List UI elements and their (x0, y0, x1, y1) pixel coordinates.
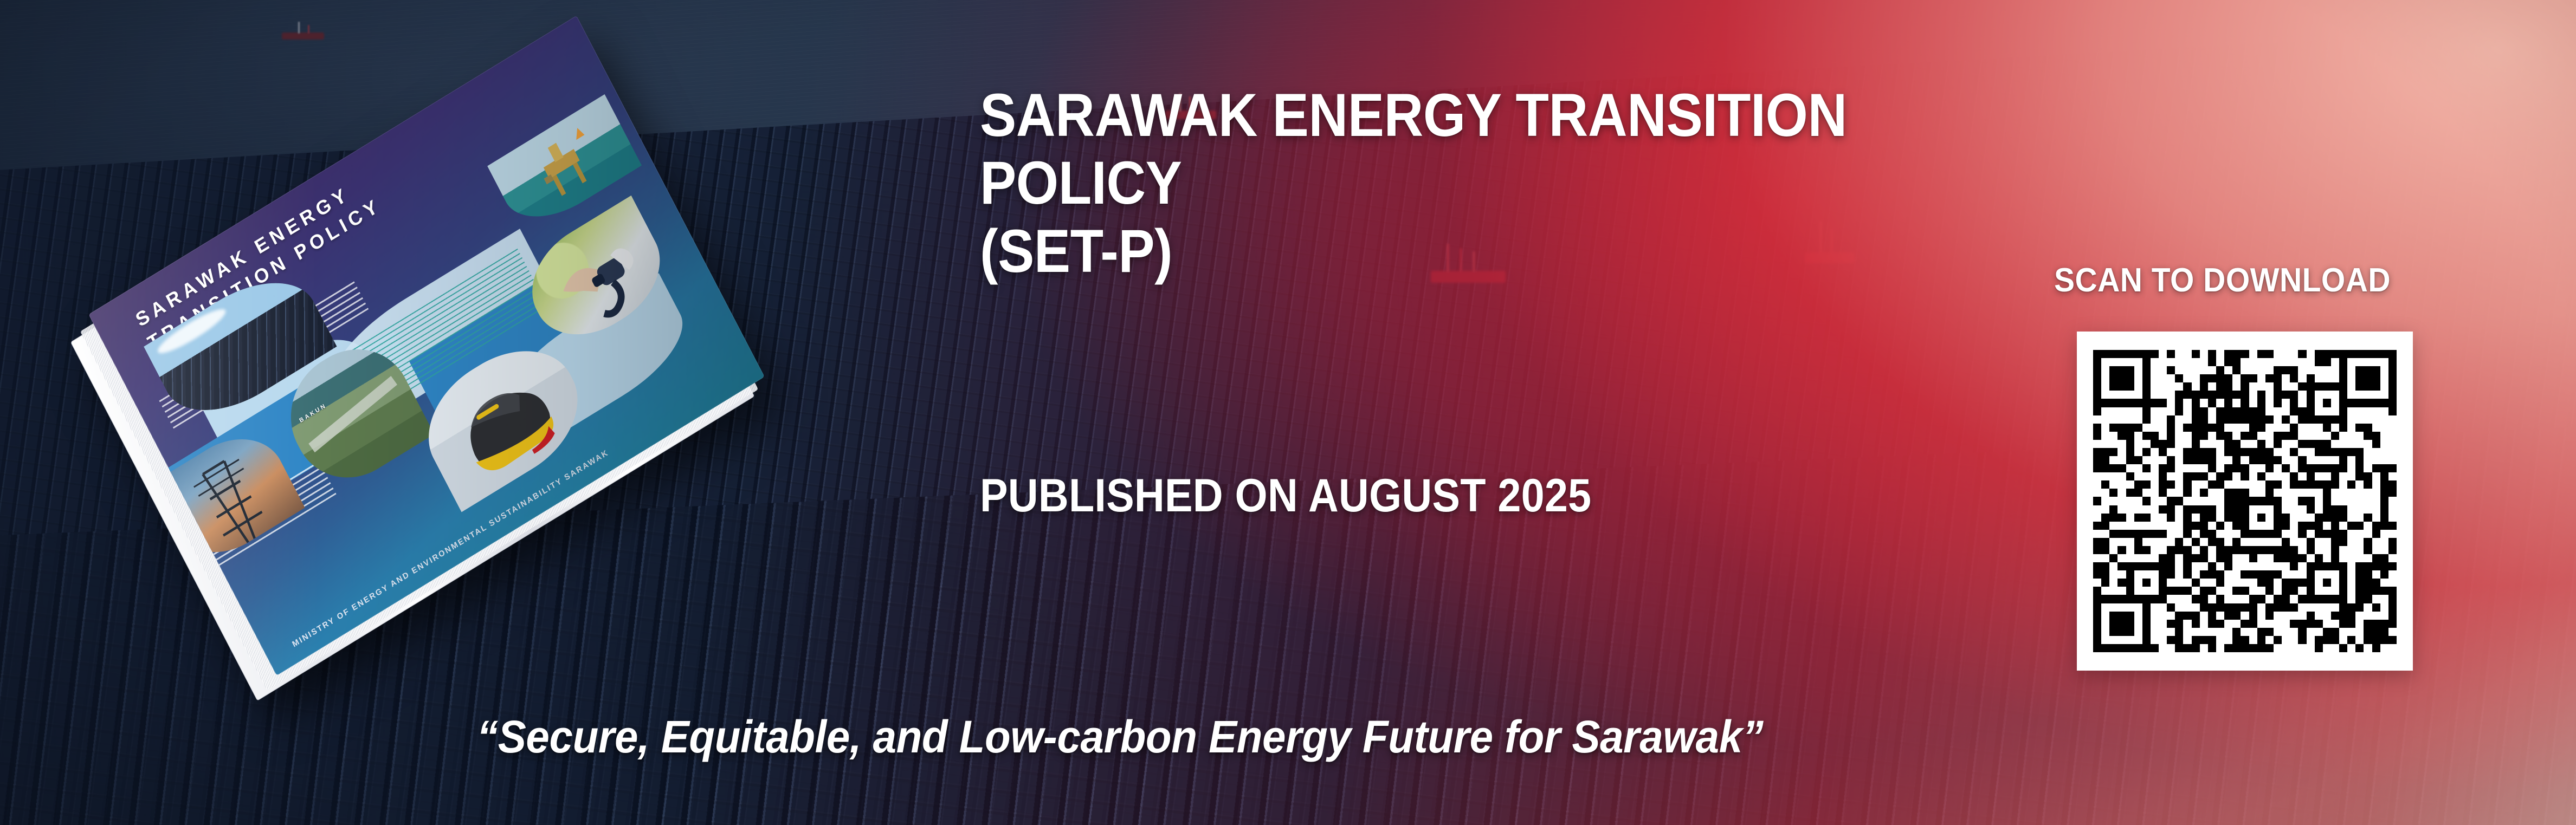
book-mockup: SARAWAK ENERGY TRANSITION POLICY (SET-P) (76, 70, 824, 623)
page-title-line-2: (SET-P) (980, 217, 2014, 285)
published-date-text: PUBLISHED ON AUGUST 2025 (980, 469, 1591, 523)
set-p-promo-banner: SARAWAK ENERGY TRANSITION POLICY (SET-P) (0, 0, 2576, 825)
page-title: SARAWAK ENERGY TRANSITION POLICY (SET-P) (980, 81, 2014, 285)
page-title-line-1: SARAWAK ENERGY TRANSITION POLICY (980, 81, 2014, 217)
book-cover: SARAWAK ENERGY TRANSITION POLICY (SET-P) (88, 15, 764, 675)
qr-code-panel[interactable] (2077, 332, 2413, 671)
tagline-text: “Secure, Equitable, and Low-carbon Energ… (477, 711, 1764, 763)
qr-code-icon[interactable] (2093, 350, 2397, 652)
scan-to-download-label: SCAN TO DOWNLOAD (2054, 261, 2391, 300)
